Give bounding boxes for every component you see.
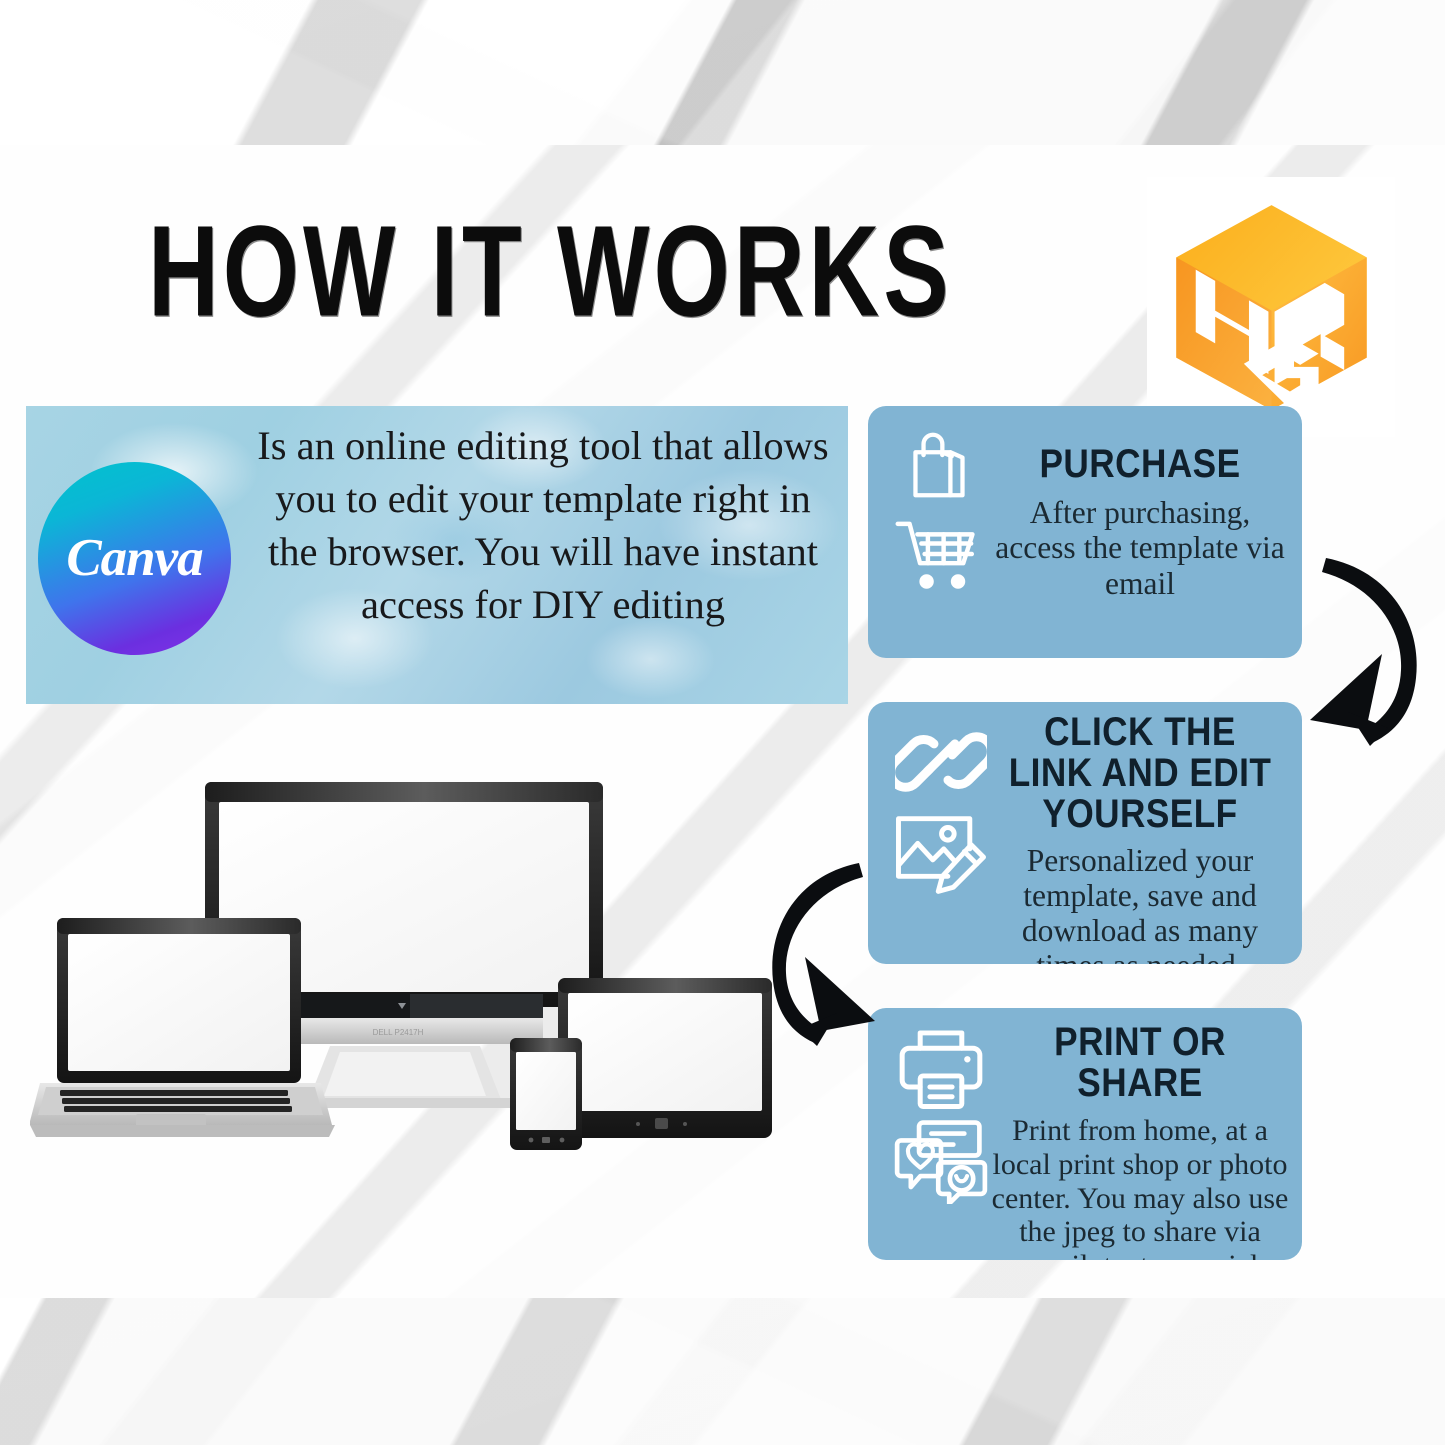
edit-body: CLICK THE LINK AND EDIT YOURSELF Persona…	[988, 712, 1292, 964]
canva-wordmark: Canva	[66, 528, 202, 588]
print-body: PRINT OR SHARE Print from home, at a loc…	[988, 1022, 1292, 1260]
svg-text:DELL P2417H: DELL P2417H	[373, 1028, 424, 1037]
chat-bubbles-icon	[893, 1118, 989, 1204]
shopping-cart-icon	[893, 516, 989, 592]
canva-logo: Canva	[38, 462, 231, 655]
hrg-cube-logo-icon	[1169, 200, 1374, 415]
smartphone-mockup	[510, 1038, 582, 1150]
tablet-mockup	[558, 978, 772, 1138]
step-card-edit[interactable]: CLICK THE LINK AND EDIT YOURSELF Persona…	[868, 702, 1302, 964]
shopping-bag-icon	[898, 424, 984, 510]
image-edit-icon	[893, 810, 989, 896]
print-heading: PRINT OR SHARE	[1006, 1022, 1274, 1104]
purchase-body: PURCHASE After purchasing, access the te…	[988, 444, 1292, 601]
brand-logo-box	[1147, 177, 1395, 437]
canva-info-banner: Canva Is an online editing tool that all…	[26, 406, 848, 704]
purchase-heading: PURCHASE	[1006, 444, 1274, 485]
link-chain-icon	[895, 720, 987, 804]
purchase-text: After purchasing, access the template vi…	[988, 495, 1292, 601]
page-title: HOW IT WORKS	[148, 206, 888, 335]
curved-arrow-down-left-icon	[1296, 536, 1436, 751]
step-card-print[interactable]: PRINT OR SHARE Print from home, at a loc…	[868, 1008, 1302, 1260]
device-mockup-group: DELL P2417H	[30, 772, 810, 1172]
print-text: Print from home, at a local print shop o…	[988, 1114, 1292, 1260]
printer-icon	[895, 1026, 987, 1112]
edit-text: Personalized your template, save and dow…	[988, 843, 1292, 964]
edit-icons	[888, 720, 993, 896]
canva-description: Is an online editing tool that allows yo…	[248, 420, 838, 631]
edit-heading: CLICK THE LINK AND EDIT YOURSELF	[1006, 712, 1274, 836]
step-card-purchase[interactable]: PURCHASE After purchasing, access the te…	[868, 406, 1302, 658]
print-icons	[888, 1026, 993, 1204]
purchase-icons	[888, 424, 993, 592]
laptop-mockup	[30, 918, 335, 1137]
poster-canvas: HOW IT WORKS	[0, 0, 1445, 1445]
